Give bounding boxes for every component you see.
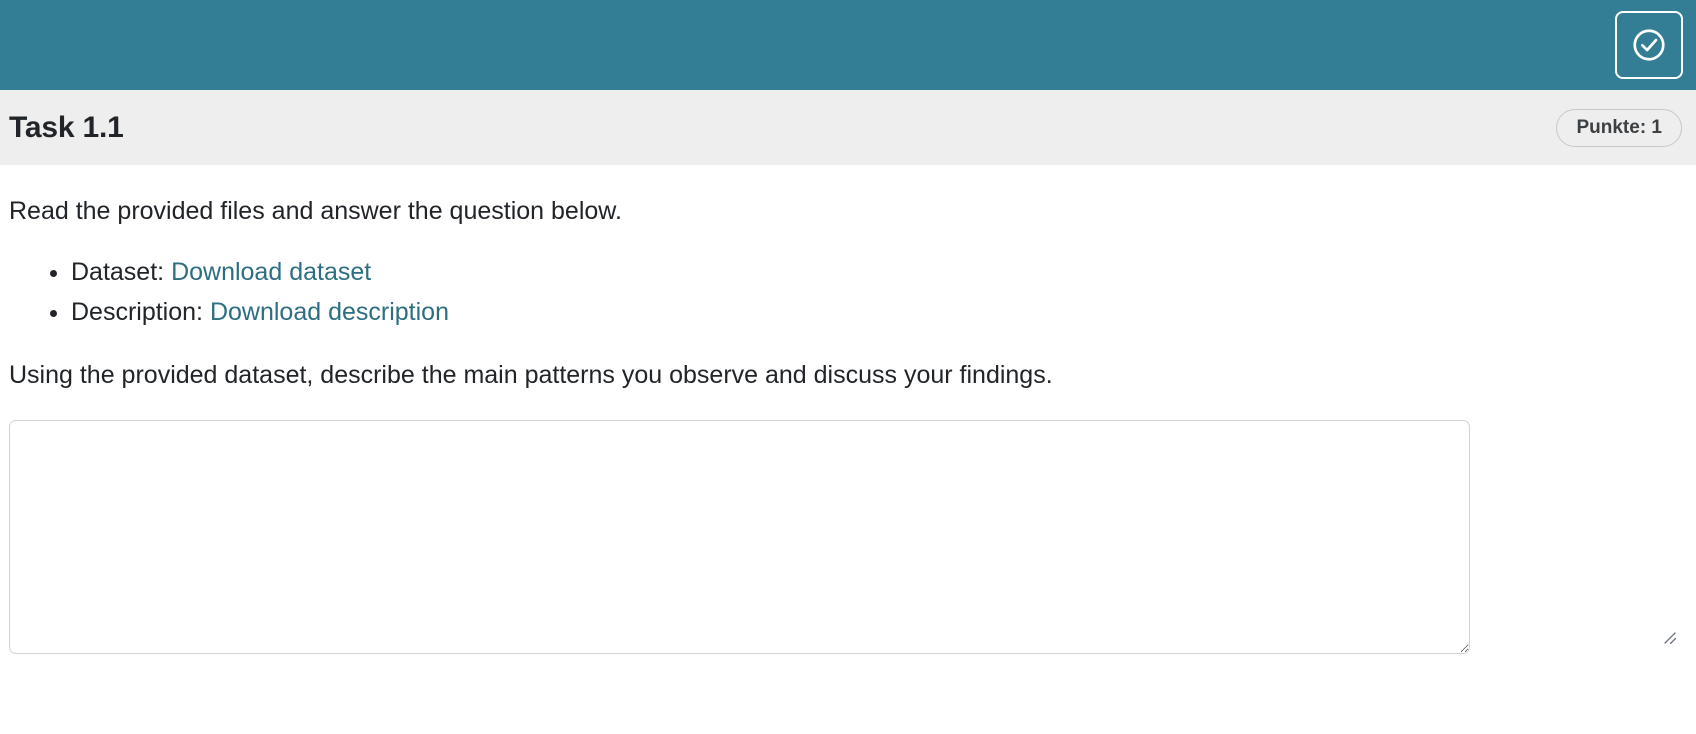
page-title: Task 1.1 [9,113,124,143]
list-item: Description: Download description [71,293,1687,332]
file-label-dataset: Dataset: [71,258,164,286]
resize-handle-icon [1661,629,1679,647]
task-header: Task 1.1 Punkte: 1 [0,90,1696,165]
check-circle-button[interactable] [1615,11,1683,79]
answer-input[interactable] [9,420,1470,654]
check-circle-icon [1630,26,1668,64]
download-dataset-link[interactable]: Download dataset [171,258,371,286]
task-content: Read the provided files and answer the q… [0,196,1696,654]
instruction-text: Read the provided files and answer the q… [9,196,1687,227]
question-text: Using the provided dataset, describe the… [9,360,1687,391]
points-badge: Punkte: 1 [1556,109,1682,147]
top-bar [0,0,1696,90]
file-label-description: Description: [71,298,203,326]
provided-files-list: Dataset: Download dataset Description: D… [9,253,1687,332]
answer-field-wrapper [9,420,1687,654]
download-description-link[interactable]: Download description [210,298,449,326]
list-item: Dataset: Download dataset [71,253,1687,292]
